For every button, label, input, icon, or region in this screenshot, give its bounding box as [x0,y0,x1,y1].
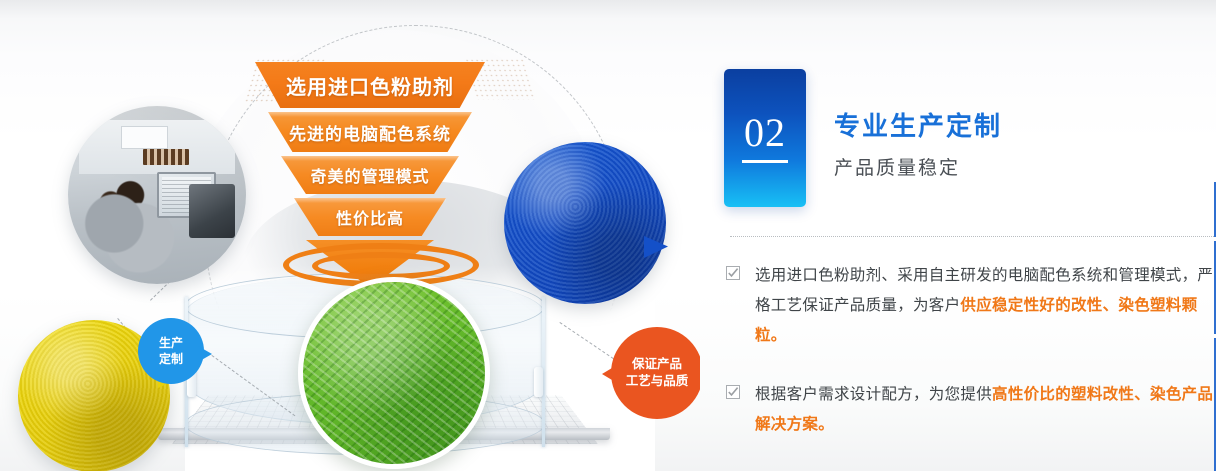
section-number-badge: 02 [724,69,806,207]
blue-pigment-pointer [644,236,670,262]
lab-instrument [189,184,235,237]
funnel-layer-1-label: 选用进口色粉助剂 [286,71,454,100]
section-heading-group: 专业生产定制 产品质量稳定 [834,69,1002,207]
list-item-text: 选用进口色粉助剂、采用自主研发的电脑配色系统和管理模式，严格工艺保证产品质量，为… [755,261,1216,352]
callout-blue-line2: 定制 [159,351,183,367]
lab-document [121,126,167,149]
callout-badge-quality[interactable]: 保证产品 工艺与品质 [611,327,700,419]
checkbox-checked-icon [726,266,740,280]
list-item: 选用进口色粉助剂、采用自主研发的电脑配色系统和管理模式，严格工艺保证产品质量，为… [726,261,1216,352]
funnel-layer-3: 奇美的管理模式 [281,156,459,194]
promo-banner: 选用进口色粉助剂 先进的电脑配色系统 奇美的管理模式 性价比高 [0,0,1216,471]
blue-pointer-triangle [644,236,668,258]
list-item: 根据客户需求设计配方，为您提供高性价比的塑料改性、染色产品解决方案。 [726,380,1216,440]
green-pellets-content [303,282,485,464]
callout-blue-line1: 生产 [159,335,183,351]
callout-orange-line2: 工艺与品质 [626,373,689,390]
green-plastic-pellets-photo [298,277,490,469]
feature-list: 选用进口色粉助剂、采用自主研发的电脑配色系统和管理模式，严格工艺保证产品质量，为… [726,261,1216,468]
list-item-text: 根据客户需求设计配方，为您提供高性价比的塑料改性、染色产品解决方案。 [755,380,1216,440]
orange-ring-inner [312,252,450,280]
header-divider [730,236,1216,237]
lab-technicians-photo [68,106,246,284]
page-title: 专业生产定制 [834,112,1002,141]
lab-photo-content [68,106,246,284]
funnel-layer-4-label: 性价比高 [336,205,404,229]
section-header: 02 专业生产定制 产品质量稳定 [724,69,1002,207]
bullet-2-plain: 根据客户需求设计配方，为您提供 [755,386,992,403]
blue-pigment-content [504,142,666,304]
blue-pigment-powder-photo [504,142,666,304]
funnel-layer-2: 先进的电脑配色系统 [268,112,472,152]
section-number: 02 [742,113,788,163]
funnel-layer-4: 性价比高 [294,198,446,236]
process-illustration: 选用进口色粉助剂 先进的电脑配色系统 奇美的管理模式 性价比高 [0,0,700,471]
checkbox-checked-icon [726,385,740,399]
content-panel: 02 专业生产定制 产品质量稳定 选用进口色粉助剂、采用自主研发的电脑配色系统和… [700,0,1216,471]
lab-sample-rack [143,149,189,165]
callout-orange-line1: 保证产品 [632,356,682,373]
callout-badge-production[interactable]: 生产 定制 [138,318,204,384]
page-subtitle: 产品质量稳定 [834,153,1002,180]
funnel-layer-1: 选用进口色粉助剂 [255,62,485,108]
funnel-layer-2-label: 先进的电脑配色系统 [289,120,451,145]
funnel-layer-3-label: 奇美的管理模式 [310,163,429,187]
cylinder-handle-right [534,367,543,397]
